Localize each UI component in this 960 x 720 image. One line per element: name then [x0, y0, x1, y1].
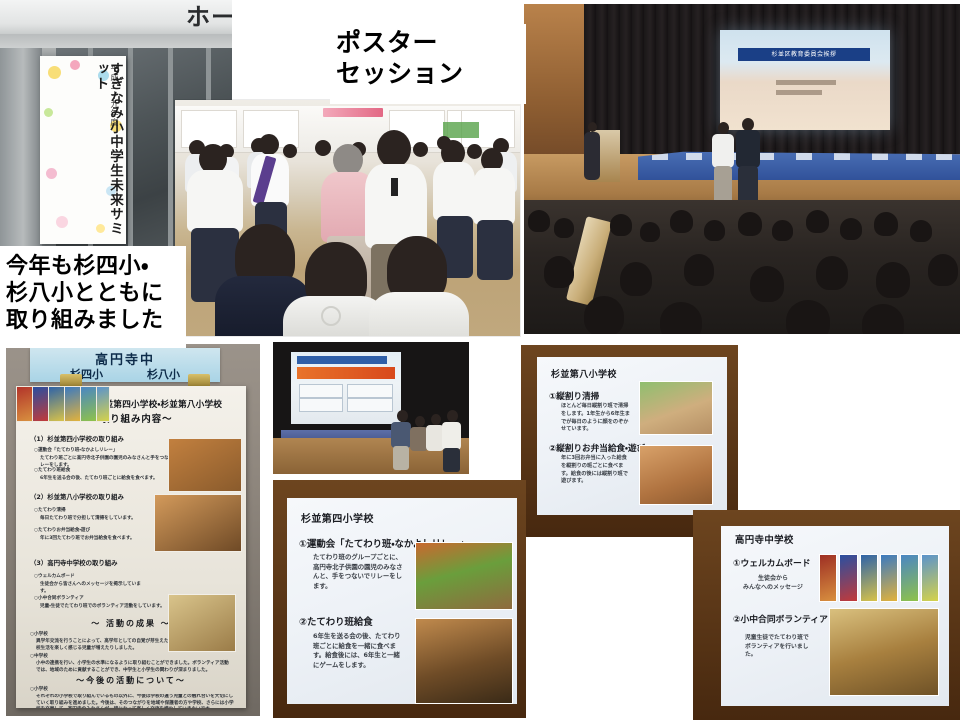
slide-kc-title: 高円寺中学校 [735, 532, 794, 546]
poster-results-1-label: ○小学校 [30, 632, 70, 639]
slide-s8-item-2-label: ②縦割りお弁当給食・遊び [549, 442, 645, 454]
slide-suginami-8th-elementary-photo: 杉並第八小学校 ①縦割り清掃 ほとんど毎日縦割り班で清掃をします。1年生から6年… [521, 345, 738, 537]
poster-future-1-body: それぞれの小学校で取り組んでいるもの以外に、今後は学校の違う児童との触れ合いを大… [36, 694, 236, 708]
slide-s4-photo-1 [415, 542, 513, 610]
auditorium-stage-photo: 杉並区教育委員会挨拶 [524, 4, 960, 334]
slide-kc-item-1-body: 生徒会から みんなへのメッセージ [737, 574, 809, 592]
slide-s8-title: 杉並第八小学校 [551, 367, 617, 380]
poster-artwork-strip [16, 386, 106, 422]
poster-header-right: 杉八小 [147, 366, 180, 382]
collage-page: ホール入口 平成二十九年度 すぎなみ小中学生未来サミット [0, 0, 960, 720]
hall-entrance-sign-text: ホール入口 [186, 2, 232, 32]
slide-kc-item-2-label: ②小中合同ボランティア [733, 612, 828, 625]
poster-section-2-item-1-label: ○たてわり清掃 [34, 508, 154, 515]
poster-section-1-item-2-label: ○たてわり班給食 [34, 468, 154, 475]
summit-banner: 平成二十九年度 すぎなみ小中学生未来サミット [40, 56, 126, 244]
slide-s4-item-2-body: 6年生を送る会の後、たてわり班ごとに給食を一緒に食べます。給食後には、6年生と一… [313, 632, 403, 670]
caption-poster-session: ポスター セッション [330, 24, 526, 104]
poster-session-crowd-photo [175, 100, 520, 336]
poster-photo-2 [154, 494, 242, 552]
slide-kc-welcome-board-strip [819, 554, 939, 600]
slide-s8-item-2-body: 年に3回お弁当に入った給食を縦割りの班ごとに食べます。給食の後には縦割り班で遊び… [561, 455, 631, 486]
slide-suginami-4th-elementary-photo: 杉並第四小学校 ①運動会「たてわり班・なかよしリレー」 たてわり班のグループごと… [273, 480, 526, 718]
slide-s4-photo-2 [415, 618, 513, 704]
slide-kc-item-2-body: 児童生徒でたてわり班でボランティアを行いました。 [745, 634, 811, 660]
banner-main-text: すぎなみ小中学生未来サミット [44, 62, 122, 240]
poster-future-heading: ～今後の活動について～ [16, 675, 246, 686]
caption-this-year: 今年も杉四小・ 杉八小とともに 取り組みました [0, 246, 186, 348]
poster-future-1-label: ○小学校 [30, 687, 70, 694]
poster-section-2-item-1-body: 毎日たてわり班で分担して清掃をしています。 [40, 516, 156, 523]
poster-results-2-body: 小中の連携を行い、小学生の水準になるように取り組むことができました。ボランティア… [36, 661, 232, 674]
poster-section-heading-1: （1）杉並第四小学校の取り組み [30, 434, 124, 443]
slide-kc-item-1-label: ①ウェルカムボード [733, 556, 811, 569]
projection-screen-title: 杉並区教育委員会挨拶 [738, 48, 870, 61]
slide-koenji-junior-high-photo: 高円寺中学校 ①ウェルカムボード 生徒会から みんなへのメッセージ ②小中合同ボ… [693, 510, 960, 720]
slide-s8-item-1-label: ①縦割り清掃 [549, 390, 599, 402]
stage-presentation-photo [273, 342, 469, 474]
poster-section-heading-2: （2）杉並第八小学校の取り組み [30, 492, 124, 501]
poster-section-heading-3: （3）高円寺中学校の取り組み [30, 558, 118, 567]
poster-section-2-item-2-body: 年に3回たてわり班でお弁当給食を食べます。 [40, 536, 152, 543]
poster-photo-3 [168, 594, 236, 652]
slide-s8-photo-1 [639, 381, 713, 435]
poster-section-3-item-2-label: ○小中合同ボランティア [34, 596, 146, 603]
poster-section-1-item-1-label: ○運動会「たてわり班・なかよしリレー」 [34, 448, 184, 455]
poster-section-2-item-2-label: ○たてわりお弁当給食・遊び [34, 528, 158, 535]
poster-section-3-item-1-label: ○ウェルカムボード [34, 574, 144, 581]
slide-s4-item-1-body: たてわり班のグループごとに、高円寺北子供園の園児のみなさんと、手をつないでリレー… [313, 553, 403, 591]
slide-s8-photo-2 [639, 445, 713, 505]
project-poster-board-photo: 高円寺中 杉四小 杉八小 高円寺中学校・杉並第四小学校・杉並第八小学校 ～取り組… [6, 344, 260, 716]
poster-section-1-item-2-body: 6年生を送る会の後、たてわり班ごとに給食を食べます。 [40, 476, 182, 483]
poster-section-3-item-1-body: 生徒会から皆さんへのメッセージを掲示しています。 [40, 582, 148, 595]
projection-screen: 杉並区教育委員会挨拶 [720, 30, 890, 130]
poster-section-3-item-2-body: 児童・生徒でたてわり班でのボランティア活動をしています。 [40, 604, 168, 611]
slide-s4-item-2-label: ②たてわり班給食 [299, 614, 373, 628]
slide-kc-photo-volunteer [829, 608, 939, 696]
poster-results-2-label: ○中学校 [30, 654, 70, 661]
poster-photo-1 [168, 438, 242, 492]
poster-sheet: 高円寺中学校・杉並第四小学校・杉並第八小学校 ～取り組み内容～ （1）杉並第四小… [16, 386, 246, 708]
slide-s8-item-1-body: ほとんど毎日縦割り班で清掃をします。1年生から6年生までが毎日のように顔をのぞか… [561, 403, 631, 434]
slide-s4-title: 杉並第四小学校 [301, 510, 374, 525]
